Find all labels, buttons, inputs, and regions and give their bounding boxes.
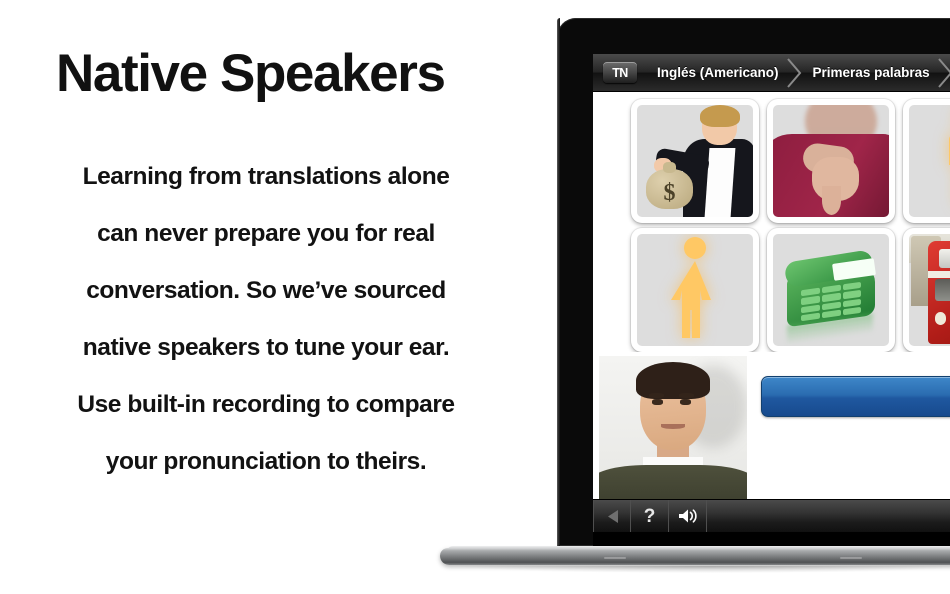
- back-arrow-icon: [606, 509, 619, 524]
- breadcrumb-label: Inglés (Americano): [657, 65, 779, 80]
- speaker-icon: [678, 508, 698, 524]
- grid-tile-thumbs-down[interactable]: [767, 99, 895, 223]
- breadcrumb-label: Primeras palabras: [813, 65, 930, 80]
- app-screen: TN Inglés (Americano) Primeras palabras: [593, 54, 950, 532]
- green-telephone-image: [773, 234, 889, 346]
- app-toolbar: ?: [593, 499, 950, 532]
- breadcrumb-item-current[interactable]: [946, 54, 950, 92]
- laptop-base: [440, 542, 950, 572]
- money-bag-woman-image: $: [637, 105, 753, 217]
- marketing-body: Learning from translations alone can nev…: [56, 148, 476, 490]
- thumbs-down-image: [773, 105, 889, 217]
- vocabulary-image-grid: $: [593, 92, 950, 352]
- mens-restroom-icon: [909, 105, 950, 217]
- grid-tile-womens-restroom[interactable]: [631, 228, 759, 352]
- question-mark-icon: ?: [644, 507, 656, 526]
- marketing-copy: Native Speakers Learning from translatio…: [0, 0, 500, 594]
- breadcrumb-item-lesson[interactable]: Primeras palabras: [795, 54, 946, 92]
- grid-tile-mens-restroom[interactable]: [903, 99, 950, 223]
- body-line: your pronunciation to theirs.: [56, 433, 476, 490]
- body-line: conversation. So we’ve sourced: [56, 262, 476, 319]
- breadcrumb-navbar: TN Inglés (Americano) Primeras palabras: [593, 54, 950, 92]
- body-line: native speakers to tune your ear.: [56, 319, 476, 376]
- laptop-mockup: TN Inglés (Americano) Primeras palabras: [551, 18, 950, 594]
- page-title: Native Speakers: [56, 46, 460, 102]
- help-button[interactable]: ?: [631, 500, 669, 532]
- answer-button[interactable]: bathr: [761, 376, 950, 417]
- body-line: Learning from translations alone: [56, 148, 476, 205]
- prompt-area: bathr: [593, 352, 950, 500]
- grid-tile-money-bag-woman[interactable]: $: [631, 99, 759, 223]
- grid-tile-telephone[interactable]: [767, 228, 895, 352]
- toolbar-filler: [707, 500, 950, 532]
- promo-screenshot: Native Speakers Learning from translatio…: [0, 0, 950, 594]
- womens-restroom-icon: [637, 234, 753, 346]
- body-line: Use built-in recording to compare: [56, 376, 476, 433]
- native-speaker-photo: [599, 356, 747, 500]
- audio-button[interactable]: [669, 500, 707, 532]
- body-line: can never prepare you for real: [56, 205, 476, 262]
- grid-tile-bus[interactable]: [903, 228, 950, 352]
- tn-logo-icon[interactable]: TN: [603, 62, 637, 83]
- breadcrumb-item-language[interactable]: Inglés (Americano): [643, 54, 795, 92]
- double-decker-bus-image: [909, 234, 950, 346]
- back-button[interactable]: [593, 500, 631, 532]
